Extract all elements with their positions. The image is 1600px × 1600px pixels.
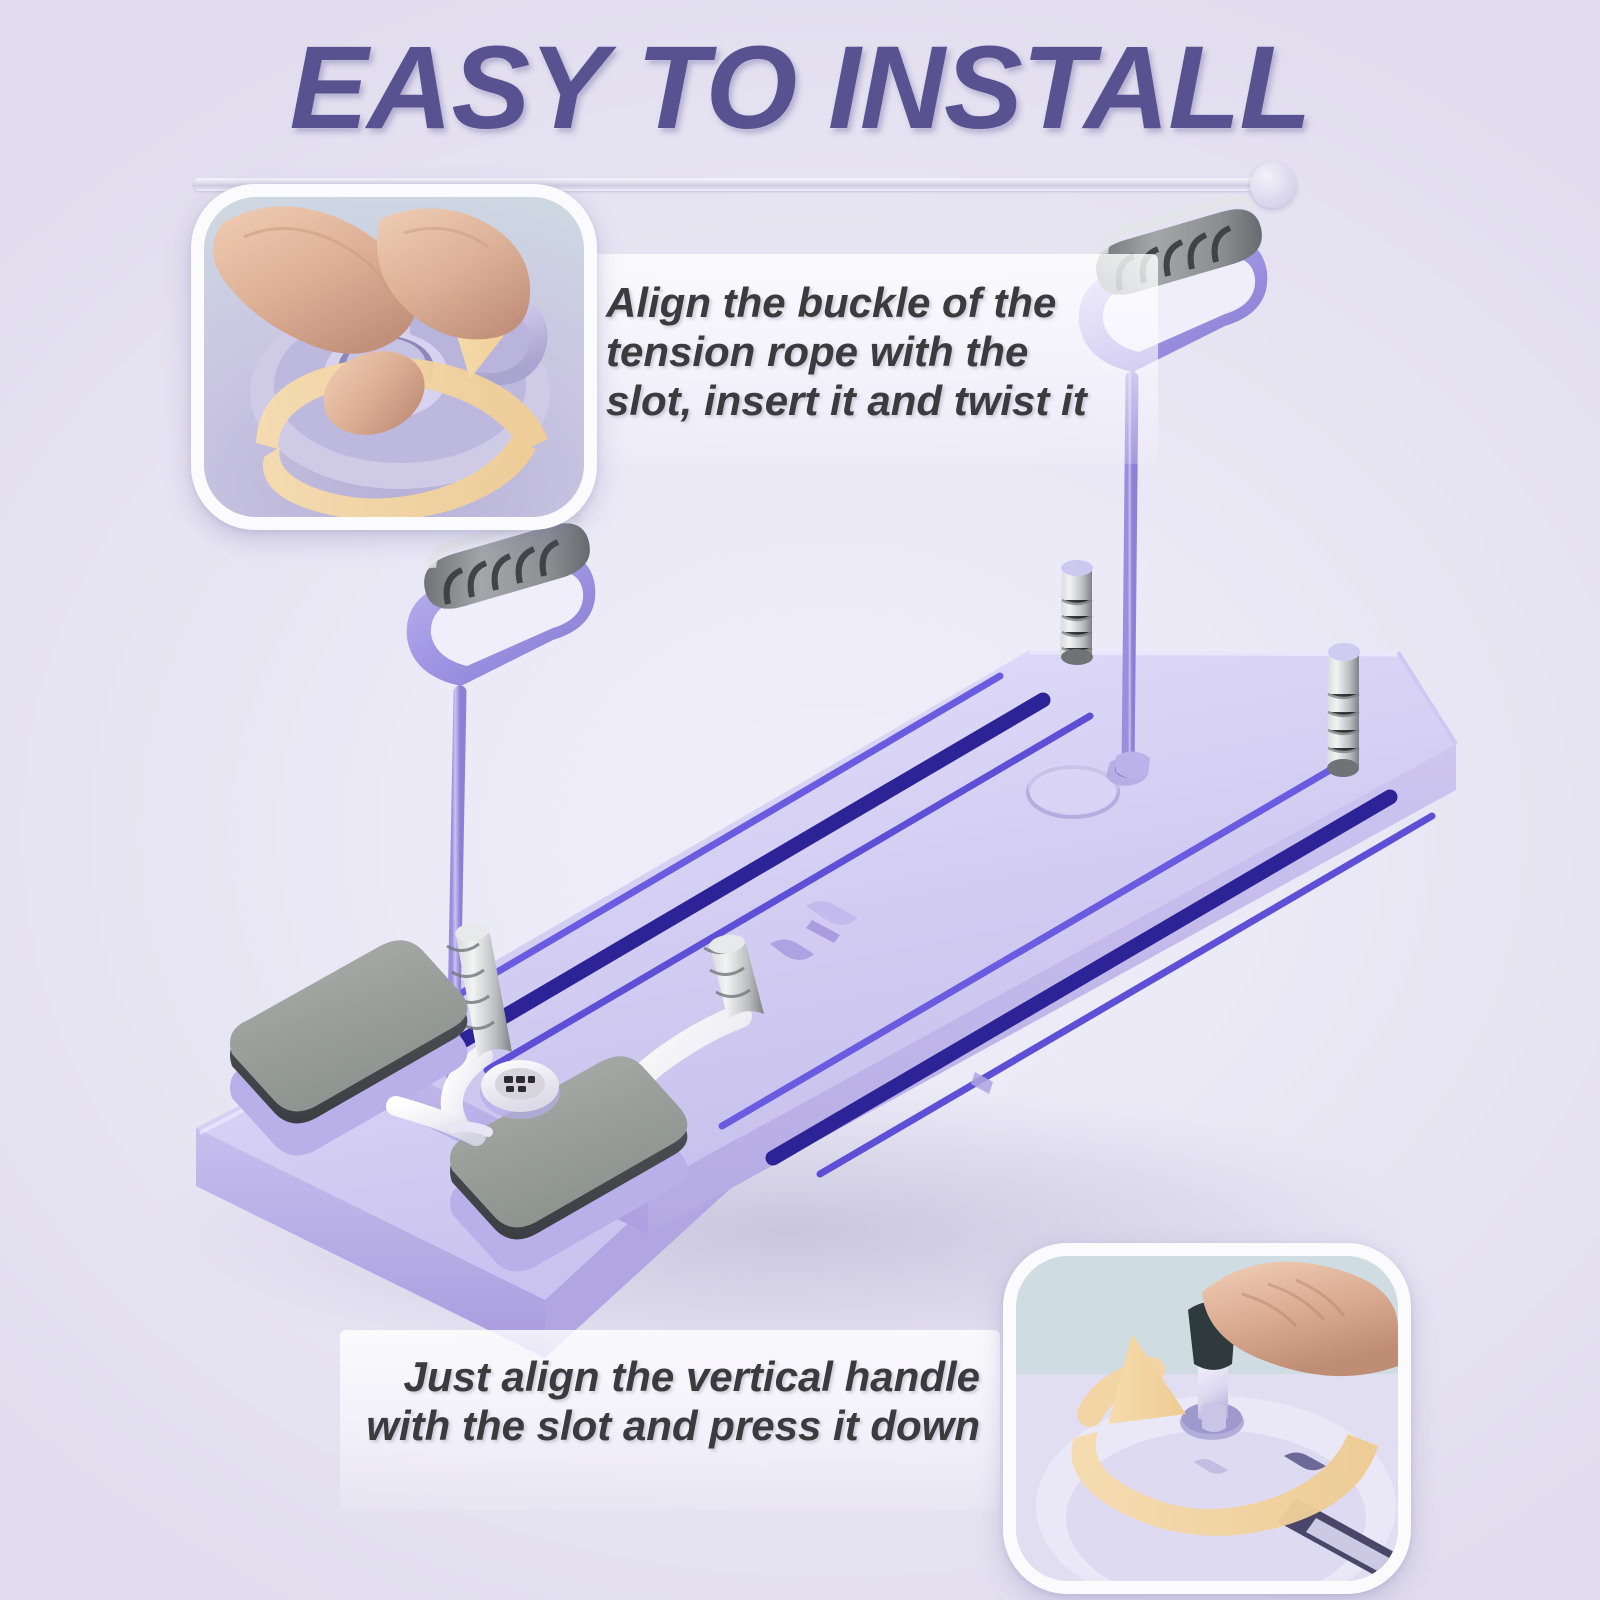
callout-text-tension-rope: Align the buckle of the tension rope wit…: [606, 278, 1126, 425]
inset-photo-buckle-twist: [204, 197, 584, 517]
round-slot[interactable]: [1028, 763, 1118, 817]
inset-card-handle-press[interactable]: [1003, 1243, 1411, 1594]
post-grip-mid[interactable]: [1060, 560, 1093, 665]
infographic-canvas: EASY TO INSTALL: [0, 0, 1600, 1600]
callout-text-vertical-handle: Just align the vertical handle with the …: [360, 1352, 980, 1450]
buckle-twist-photo: [204, 197, 584, 517]
inset-photo-handle-press: [1016, 1256, 1398, 1581]
handle-press-photo: [1016, 1256, 1398, 1581]
post-grip-right[interactable]: [1327, 643, 1360, 777]
counter-display[interactable]: [480, 1060, 560, 1119]
inset-card-buckle-twist[interactable]: [191, 184, 597, 530]
